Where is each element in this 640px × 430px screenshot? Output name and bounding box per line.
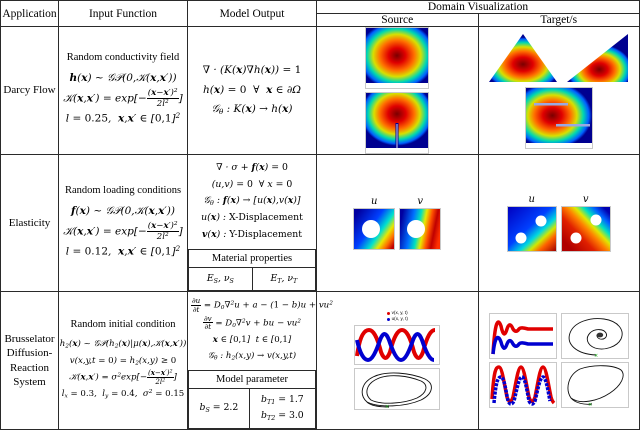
source-u-panel: u [353,196,395,250]
source-visualization-cell [317,27,479,155]
figure-table: Application Input Function Model Output … [0,0,640,417]
input-equation-3: l = 0.12, x,x′ ∈ [0,1]2 [59,242,187,262]
target-v-panel: v [561,194,611,252]
header-input-function: Input Function [59,1,188,27]
subsection-title: Material properties [189,249,316,267]
param-source: bS = 2.2 [189,388,250,428]
target-visualization-cell: × × [478,292,640,430]
legend-entry-u: u(x, y, t) [387,317,408,322]
input-equation-2: 𝒦(x,x′) = exp[−(x−x′)22l2] [59,88,187,109]
isoceles-triangle-field-icon [486,32,560,84]
slotted-square-field-panel [525,87,593,149]
target-row-2: × [489,362,629,408]
plate-two-holes-u-icon [507,206,557,252]
right-triangle-field-icon [564,32,632,84]
input-title: Random initial condition [59,319,187,330]
input-equation-1: h2(x) ~ 𝒢𝒫(h2(x)|μ(x),𝒦(x,x′)) [59,336,187,353]
source-panels: v(x, y, t) u(x, y, t) × [317,311,478,410]
application-name: Darcy Flow [1,27,59,155]
output-equation-5: v(x) : Y-Displacement [191,227,313,244]
output-equation-2: h(x) = 0 ∀ x ∈ ∂Ω [188,81,316,100]
param-targets: bT1 = 1.7 bT2 = 3.0 [249,388,315,428]
v-label: v [417,196,423,207]
sustained-oscillation-plot-icon [354,325,440,365]
start-marker: × [385,404,389,410]
series-legend: v(x, y, t) u(x, y, t) [387,311,408,321]
material-properties-values-row: ES, νS ET, νT [189,267,316,291]
model-output-cell: ∂u∂t = D0∇2u + a − (1 − b)u + vu2 ∂v∂t =… [188,292,317,430]
header-application: Application [1,1,59,27]
source-v-panel: v [399,196,441,250]
output-equations: ∂u∂t = D0∇2u + a − (1 − b)u + vu2 ∂v∂t =… [188,292,316,369]
input-equation-1: f(x) ~ 𝒢𝒫(0,𝒦(x,x′)) [59,202,187,221]
output-equation-4: u(x) : X-Displacement [191,210,313,227]
table-row-darcy-flow: Darcy Flow Random conductivity field h(x… [1,27,640,155]
limit-cycle-phase-portrait-icon: × [354,368,440,410]
source-visualization-cell: u [317,155,479,292]
output-equation-3: 𝒢θ : K(x) → h(x) [188,100,316,119]
start-marker: × [588,402,592,408]
header-model-output: Model Output [188,1,317,27]
material-properties-table: Material properties ES, νS ET, νT [188,249,316,292]
output-equation-3: 𝒢θ : f(x) → [u(x),v(x)] [191,193,313,210]
u-label: u [529,194,535,205]
input-function-cell: Random conductivity field h(x) ~ 𝒢𝒫(0,𝒦(… [59,27,188,155]
input-equation-3: 𝒦(x,x′) = σ2exp[−(x−x′)22l2] [59,369,187,386]
input-equation-1: h(x) ~ 𝒢𝒫(0,𝒦(x,x′)) [59,69,187,88]
input-title: Random loading conditions [59,185,187,196]
sustained-oscillation-plot-icon [489,362,557,408]
v-label: v [583,194,589,205]
application-name: Brusselator Diffusion-Reaction System [1,292,59,430]
source-panels [317,27,478,154]
model-parameter-values-row: bS = 2.2 bT1 = 1.7 bT2 = 3.0 [189,388,316,428]
param-target-1: bT1 = 1.7 [252,392,313,409]
header-targets: Target/s [478,14,640,27]
output-equation-3: x ∈ [0,1] t ∈ [0,1] [191,332,313,348]
header-source: Source [317,14,479,27]
target-visualization-cell [478,27,640,155]
notched-square-field-icon [366,93,428,148]
legend-label-u: u(x, y, t) [392,317,408,322]
param-target: ET, νT [252,267,315,291]
input-function-cell: Random loading conditions f(x) ~ 𝒢𝒫(0,𝒦(… [59,155,188,292]
target-row-1: × [489,313,629,359]
input-function-cell: Random initial condition h2(x) ~ 𝒢𝒫(h2(x… [59,292,188,430]
application-name: Elasticity [1,155,59,292]
subsection-title: Model parameter [189,370,316,388]
input-title: Random conductivity field [59,52,187,63]
target-panels: × × [479,313,640,408]
source-visualization-cell: v(x, y, t) u(x, y, t) × [317,292,479,430]
plate-one-hole-u-icon [353,208,395,250]
output-equation-2: (u,v) = 0 ∀ x = 0 [191,177,313,194]
target-u-panel: u [507,194,557,252]
legend-dot-v [387,312,390,315]
u-label: u [371,196,377,207]
target-visualization-cell: u [478,155,640,292]
target-panels [479,32,640,149]
input-equation-2: 𝒦(x,x′) = exp[−(x−x′)22l2] [59,221,187,242]
output-equation-1: ∇ · σ + f(x) = 0 [191,160,313,177]
table-row-elasticity: Elasticity Random loading conditions f(x… [1,155,640,292]
output-equation-1: ∇ · (K(x)∇h(x)) = 1 [188,61,316,80]
main-table: Application Input Function Model Output … [0,0,640,430]
input-equation-2: v(x,y,t = 0) = h2(x,y) ≥ 0 [59,353,187,370]
param-source: ES, νS [189,267,253,291]
start-marker: × [594,353,598,359]
model-output-cell: ∇ · σ + f(x) = 0 (u,v) = 0 ∀ x = 0 𝒢θ : … [188,155,317,292]
material-properties-header-row: Material properties [189,249,316,267]
output-equations: ∇ · σ + f(x) = 0 (u,v) = 0 ∀ x = 0 𝒢θ : … [188,155,316,249]
square-field-panel [365,27,429,89]
source-panels: u [317,193,478,253]
output-equation-1: ∂u∂t = D0∇2u + a − (1 − b)u + vu2 [191,297,313,314]
inward-spiral-phase-portrait-icon: × [561,313,629,359]
square-field-icon [366,28,428,83]
legend-dot-u [387,318,390,321]
input-equation-3: l = 0.25, x,x′ ∈ [0,1]2 [59,109,187,129]
output-equation-4: 𝒢θ : h2(x,y) → v(x,y,t) [191,348,313,365]
table-row-brusselator: Brusselator Diffusion-Reaction System Ra… [1,292,640,430]
damped-oscillation-plot-icon [489,313,557,359]
limit-cycle-phase-portrait-icon: × [561,362,629,408]
output-equation-2: ∂v∂t = D0∇2v + bu − vu2 [191,315,313,332]
notched-square-field-panel [365,92,429,154]
model-output-cell: ∇ · (K(x)∇h(x)) = 1 h(x) = 0 ∀ x ∈ ∂Ω 𝒢θ… [188,27,317,155]
model-parameter-header-row: Model parameter [189,370,316,388]
model-parameter-table: Model parameter bS = 2.2 bT1 = 1.7 bT2 =… [188,370,316,429]
target-panels: u [479,191,640,255]
header-domain-visualization: Domain Visualization [317,1,640,14]
triangle-targets [486,32,632,84]
slotted-square-field-icon [526,88,592,143]
plate-two-holes-v-icon [561,206,611,252]
plate-one-hole-v-icon [399,208,441,250]
header-row: Application Input Function Model Output … [1,1,640,14]
input-equation-4: lx = 0.3, ly = 0.4, σ2 = 0.15 [59,386,187,403]
